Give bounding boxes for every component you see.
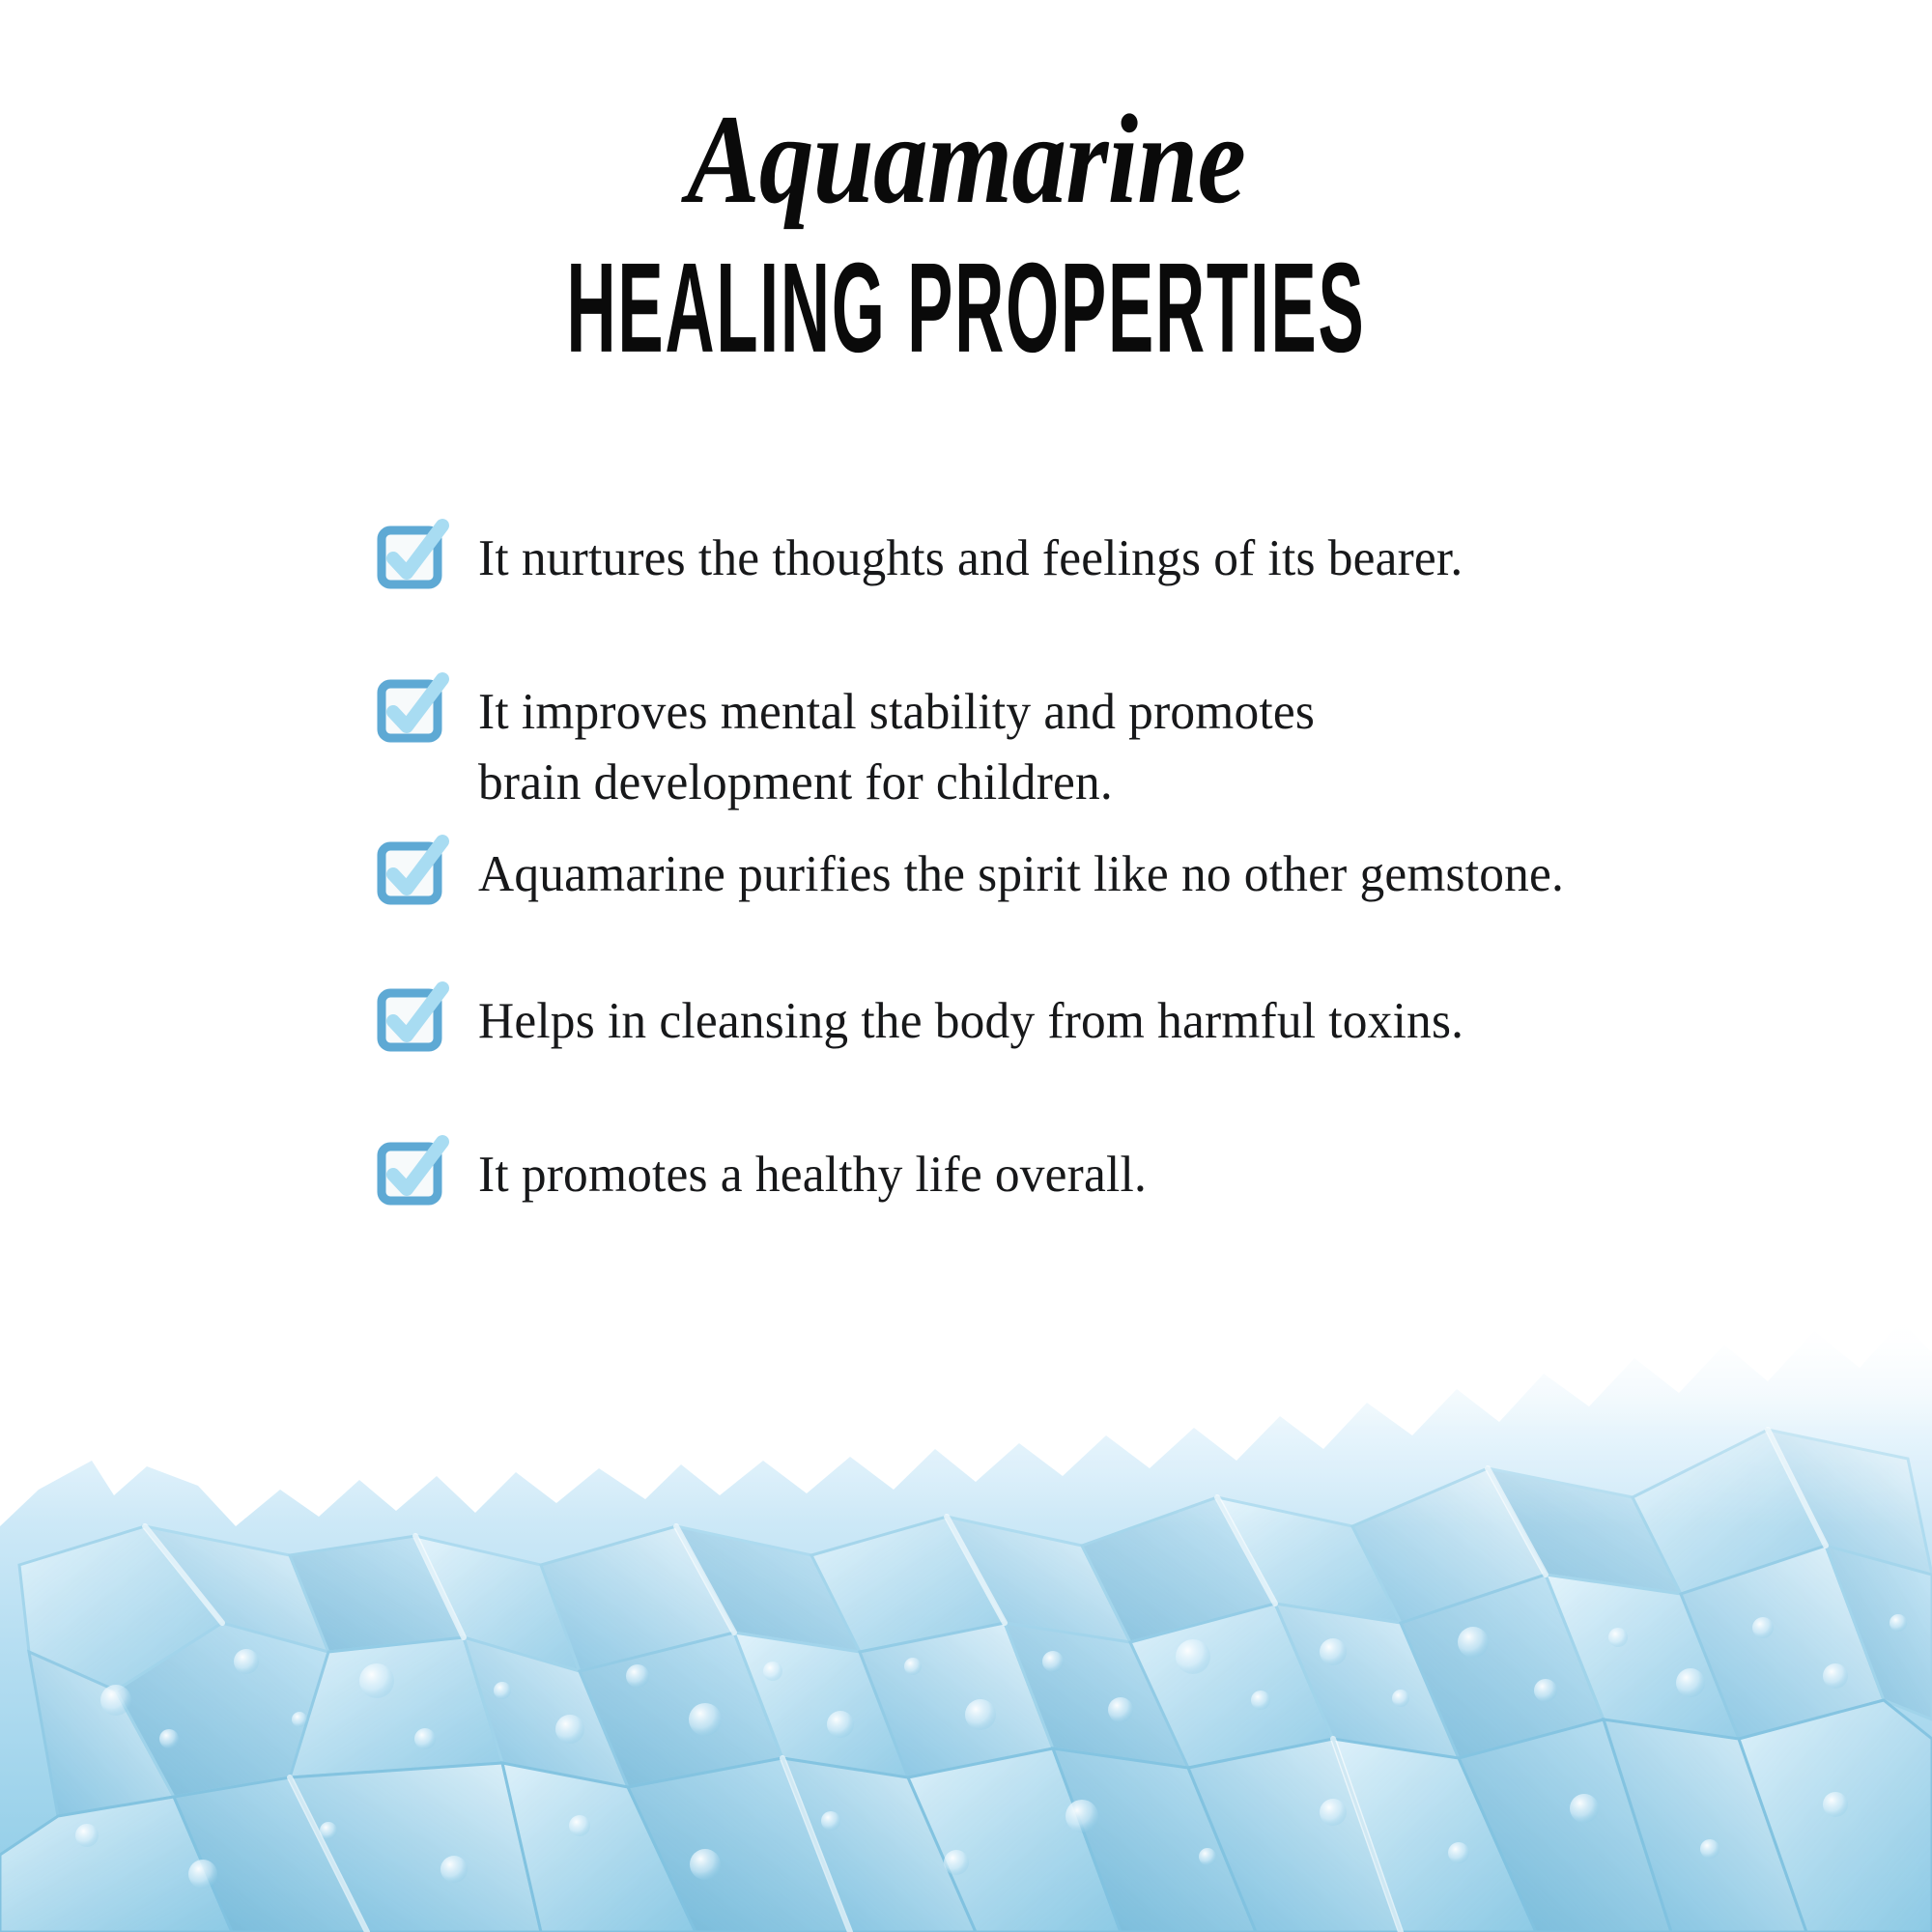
list-item-label: It promotes a healthy life overall. xyxy=(478,1138,1147,1210)
list-item: Aquamarine purifies the spirit like no o… xyxy=(377,838,1826,910)
properties-list: It nurtures the thoughts and feelings of… xyxy=(377,522,1826,1210)
list-item: It promotes a healthy life overall. xyxy=(377,1138,1826,1210)
poster-canvas: Aquamarine HEALING PROPERTIES It nurture… xyxy=(0,0,1932,1932)
page-subtitle: HEALING PROPERTIES xyxy=(386,244,1546,372)
checked-checkbox-icon xyxy=(377,675,446,745)
checked-checkbox-icon xyxy=(377,984,446,1054)
list-item: It nurtures the thoughts and feelings of… xyxy=(377,522,1826,594)
list-item: It improves mental stability and promote… xyxy=(377,675,1826,818)
list-item-label: It nurtures the thoughts and feelings of… xyxy=(478,522,1463,594)
page-title: Aquamarine xyxy=(135,93,1797,227)
list-item-label: Aquamarine purifies the spirit like no o… xyxy=(478,838,1564,910)
list-item-label: It improves mental stability and promote… xyxy=(478,675,1315,818)
checked-checkbox-icon xyxy=(377,1138,446,1207)
checked-checkbox-icon xyxy=(377,838,446,907)
list-item: Helps in cleansing the body from harmful… xyxy=(377,984,1826,1057)
list-item-label: Helps in cleansing the body from harmful… xyxy=(478,984,1463,1057)
ice-cubes-photo xyxy=(0,1236,1932,1932)
header: Aquamarine HEALING PROPERTIES xyxy=(0,0,1932,358)
checked-checkbox-icon xyxy=(377,522,446,591)
